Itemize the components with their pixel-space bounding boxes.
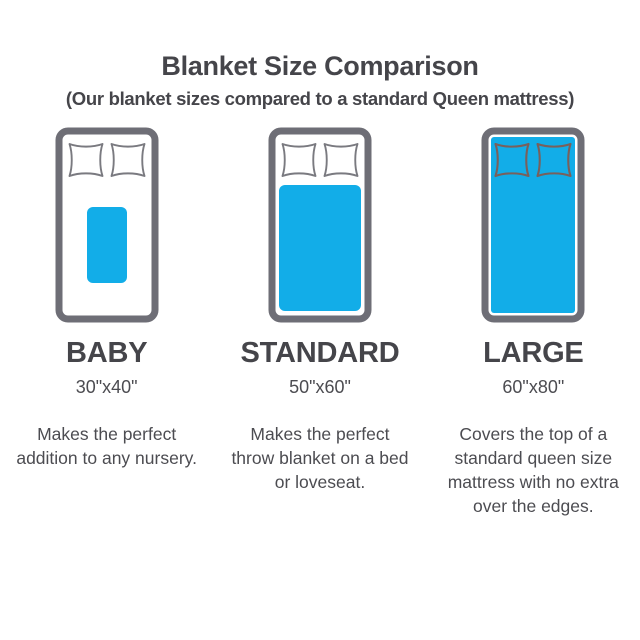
pillow-icon bbox=[111, 144, 144, 176]
pillow-icon bbox=[282, 144, 315, 176]
bed-diagram-standard bbox=[268, 127, 372, 323]
bed-diagram-large bbox=[481, 127, 585, 323]
page-subtitle: (Our blanket sizes compared to a standar… bbox=[0, 89, 640, 109]
pillow-icon bbox=[69, 144, 102, 176]
size-label-large: LARGE bbox=[483, 339, 584, 368]
pillow-icon bbox=[324, 144, 357, 176]
description-baby: Makes the perfect addition to any nurser… bbox=[14, 422, 200, 470]
mattress-outline-icon bbox=[268, 127, 372, 323]
description-large: Covers the top of a standard queen size … bbox=[440, 422, 626, 519]
bed-diagram-baby bbox=[55, 127, 159, 323]
size-label-baby: BABY bbox=[66, 339, 147, 368]
mattress-outline-icon bbox=[481, 127, 585, 323]
mattress-outline-icon bbox=[55, 127, 159, 323]
size-dimensions-standard: 50"x60" bbox=[289, 378, 351, 396]
comparison-columns: BABY 30"x40" Makes the perfect addition … bbox=[0, 127, 640, 519]
size-dimensions-baby: 30"x40" bbox=[76, 378, 138, 396]
column-large: LARGE 60"x80" Covers the top of a standa… bbox=[427, 127, 640, 519]
blanket-shape-large bbox=[491, 137, 575, 313]
page-title: Blanket Size Comparison bbox=[0, 52, 640, 82]
description-standard: Makes the perfect throw blanket on a bed… bbox=[227, 422, 413, 494]
blanket-shape-standard bbox=[279, 185, 361, 311]
blanket-shape-baby bbox=[87, 207, 127, 283]
size-dimensions-large: 60"x80" bbox=[502, 378, 564, 396]
header: Blanket Size Comparison (Our blanket siz… bbox=[0, 0, 640, 109]
column-standard: STANDARD 50"x60" Makes the perfect throw… bbox=[213, 127, 426, 519]
size-label-standard: STANDARD bbox=[241, 339, 400, 368]
infographic-page: Blanket Size Comparison (Our blanket siz… bbox=[0, 0, 640, 640]
column-baby: BABY 30"x40" Makes the perfect addition … bbox=[0, 127, 213, 519]
